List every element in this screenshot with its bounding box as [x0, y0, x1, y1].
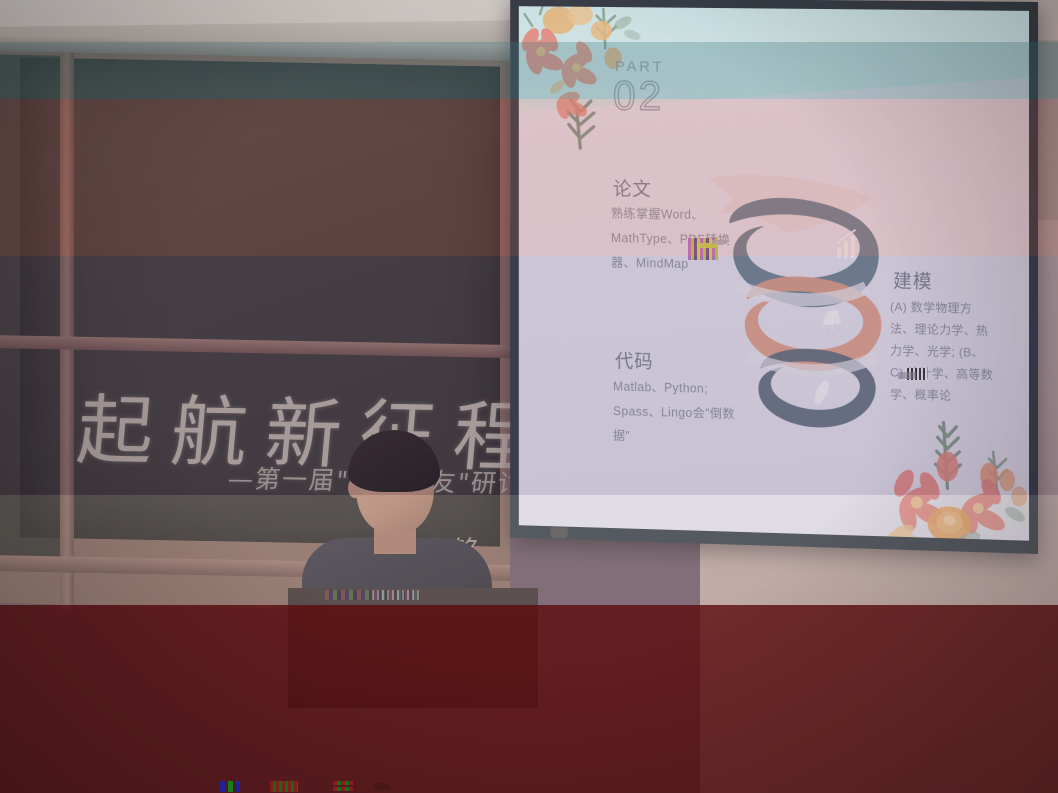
screen-bottom-hook: [550, 527, 567, 538]
screenshot-root: 起航新征程 —第一届"以数会友"研讨会 铭: [0, 0, 1058, 793]
leaf-icon: [823, 310, 841, 331]
slide-body-code: Matlab、Python; Spass、Lingo会"倒数据": [613, 375, 744, 452]
podium: [288, 588, 538, 708]
projector-screen-surface: 论文 熟练掌握Word、MathType、PDF转换器、MindMap 代码 M…: [519, 6, 1029, 541]
glitch-artifact: [333, 781, 353, 785]
glitch-artifact: [333, 787, 353, 791]
slide-heading-code: 代码: [615, 346, 654, 373]
glitch-artifact: [228, 781, 233, 792]
floral-cluster-bottom-right-icon: [886, 415, 1029, 541]
slide-heading-paper: 论文: [613, 174, 652, 201]
slide-body-paper: 熟练掌握Word、MathType、PDF转换器、MindMap: [611, 202, 737, 278]
glitch-artifact: [236, 781, 240, 792]
glitch-artifact: [373, 783, 389, 790]
bar-chart-icon: [837, 229, 856, 258]
slide-heading-modeling: 建模: [893, 266, 933, 294]
presenter-hair: [348, 430, 440, 492]
slide-body-modeling: (A) 数学物理方法、理论力学、热力学、光学; (B、C) 统计学、高等数学、概…: [890, 296, 994, 408]
projector-screen-frame: 论文 熟练掌握Word、MathType、PDF转换器、MindMap 代码 M…: [510, 0, 1038, 554]
feather-icon: [815, 380, 829, 406]
slide-part-number: 02: [613, 72, 664, 120]
projector-screen-assembly: 论文 熟练掌握Word、MathType、PDF转换器、MindMap 代码 M…: [510, 0, 1038, 562]
glitch-artifact: [270, 781, 298, 792]
glitch-artifact: [220, 781, 225, 792]
blackboard-divider: [60, 50, 74, 610]
